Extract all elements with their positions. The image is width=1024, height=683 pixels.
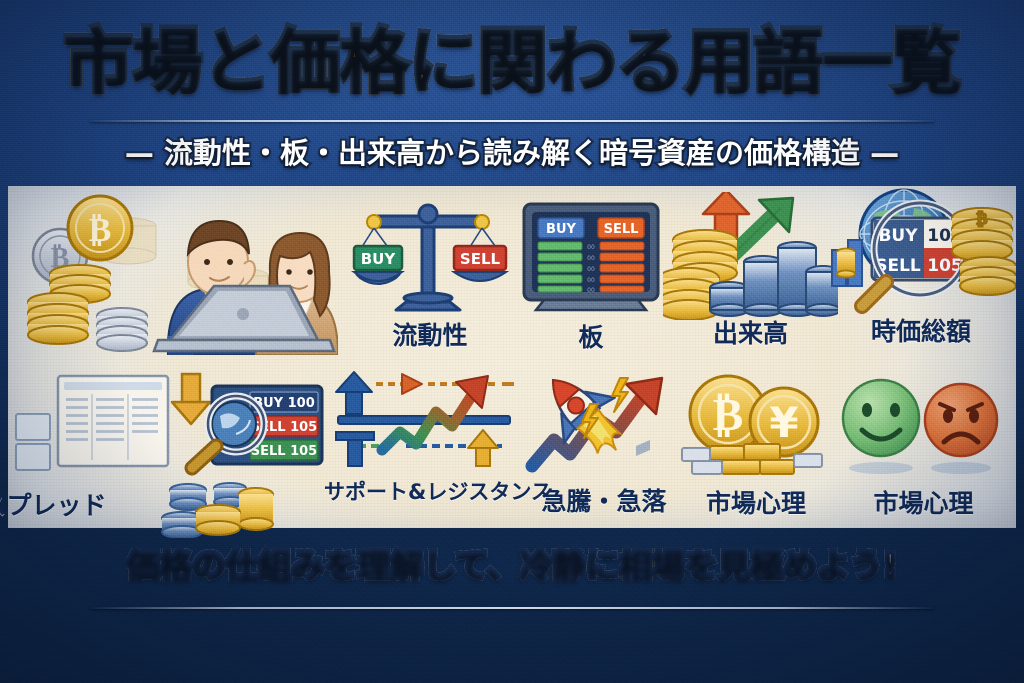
cell-sentiment-faces: 市場心理 xyxy=(836,372,1011,522)
svg-text:SELL: SELL xyxy=(460,250,501,268)
content-panel: ₿ ₿ xyxy=(8,186,1016,528)
happy-face-icon xyxy=(843,380,919,456)
smiley-frowny-faces-icon xyxy=(836,372,1011,478)
cell-surge-crash: 急騰・急落 xyxy=(524,370,684,520)
svg-text:BUY: BUY xyxy=(361,250,397,268)
order-book-screen-icon: BUY SELL 0000000000 xyxy=(516,200,666,318)
sad-face-icon xyxy=(925,384,997,456)
rocket-trend-icon xyxy=(524,370,684,478)
title-part-1: 市場 xyxy=(64,26,202,96)
banner-part-3: に xyxy=(586,548,619,581)
bitcoin-yen-coins-icon: ₿ ¥ xyxy=(676,372,836,478)
document-magnifier-quote-screen-icon: BUY 100 SELL 105 SELL 105 xyxy=(14,368,324,488)
label-marketcap: 時価総額 xyxy=(826,312,1016,348)
svg-text:₿: ₿ xyxy=(89,210,112,250)
svg-text:00: 00 xyxy=(587,244,595,251)
cell-support-resistance: サポート&レジスタンス xyxy=(324,370,524,520)
label-liquidity: 流動性 xyxy=(350,316,510,352)
cell-volume: 出来高 xyxy=(663,192,838,362)
title-block: 市場と価格に関わる用語一覧 xyxy=(0,26,1024,96)
page-title: 市場と価格に関わる用語一覧 xyxy=(64,26,961,96)
document-icon xyxy=(58,376,168,466)
svg-text:SELL: SELL xyxy=(604,222,639,237)
balance-scale-icon: BUY SELL xyxy=(350,198,510,318)
divider-bottom xyxy=(90,607,934,609)
infographic-poster: 市場と価格に関わる用語一覧 — 流動性・板・出来高から読み解く暗号資産の価格構造… xyxy=(0,0,1024,683)
title-part-5: 用語一覧 xyxy=(685,26,961,96)
buy-plate: BUY xyxy=(354,246,402,284)
cell-marketcap: BUY SELL 100 105 xyxy=(826,188,1016,360)
globe-magnifier-coins-icon: BUY SELL 100 105 xyxy=(826,188,1016,318)
svg-text:00: 00 xyxy=(587,287,595,294)
coin-stacks-bar-chart-icon xyxy=(663,192,838,320)
cell-sentiment-coins: ₿ ¥ 市場心理 xyxy=(676,372,836,522)
label-support-resistance: サポート&レジスタンス xyxy=(324,476,524,506)
svg-text:₿: ₿ xyxy=(713,387,744,441)
svg-text:00: 00 xyxy=(587,255,595,262)
banner-part-2: 冷静 xyxy=(520,548,586,581)
up-arrow-gold xyxy=(468,430,498,466)
svg-text:SELL 105: SELL 105 xyxy=(251,444,317,459)
cell-liquidity: BUY SELL 流動性 xyxy=(350,198,510,358)
svg-text:¥: ¥ xyxy=(769,398,798,447)
label-surge-crash: 急騰・急落 xyxy=(524,482,684,518)
title-part-3: 価格 xyxy=(271,26,409,96)
support-resistance-lines-icon xyxy=(324,370,524,476)
page-subtitle: — 流動性・板・出来高から読み解く暗号資産の価格構造 — xyxy=(0,130,1024,172)
people-trading-illustration: ₿ ₿ xyxy=(18,190,338,355)
label-orderbook: 板 xyxy=(516,318,666,354)
cell-orderbook: BUY SELL 0000000000 板 xyxy=(516,200,666,360)
down-stem-blue xyxy=(336,432,374,466)
sell-plate: SELL xyxy=(454,246,506,281)
svg-text:00: 00 xyxy=(587,266,595,273)
gold-coin-stack-right: ₿ xyxy=(952,208,1016,295)
cell-spread: BUY 100 SELL 105 SELL 105 xyxy=(14,368,324,523)
title-part-4: に関わる xyxy=(409,26,685,96)
svg-text:00: 00 xyxy=(587,277,595,284)
banner-part-5: を見極めよう! xyxy=(685,548,898,581)
cell-traders: ₿ ₿ xyxy=(18,190,338,355)
svg-text:₿: ₿ xyxy=(977,209,988,228)
down-arrow-gold xyxy=(172,374,210,424)
bottom-banner: 価格の仕組みを理解して、冷静に相場を見極めよう! xyxy=(0,548,1024,581)
title-part-2: と xyxy=(202,26,271,96)
label-volume: 出来高 xyxy=(663,314,838,350)
banner-part-1: 価格の仕組みを理解して、 xyxy=(126,548,519,581)
up-arrow-blue xyxy=(336,372,372,414)
side-cards xyxy=(16,414,50,470)
divider-top xyxy=(90,120,934,122)
banner-part-4: 相場 xyxy=(619,548,685,581)
label-sentiment-coins: 市場心理 xyxy=(676,484,836,520)
svg-text:BUY: BUY xyxy=(546,222,576,237)
coin-group-icon xyxy=(160,480,280,538)
bitcoin-gold-coin: ₿ xyxy=(68,196,132,260)
label-sentiment-faces: 市場心理 xyxy=(836,484,1011,520)
svg-text:BUY: BUY xyxy=(878,226,918,246)
